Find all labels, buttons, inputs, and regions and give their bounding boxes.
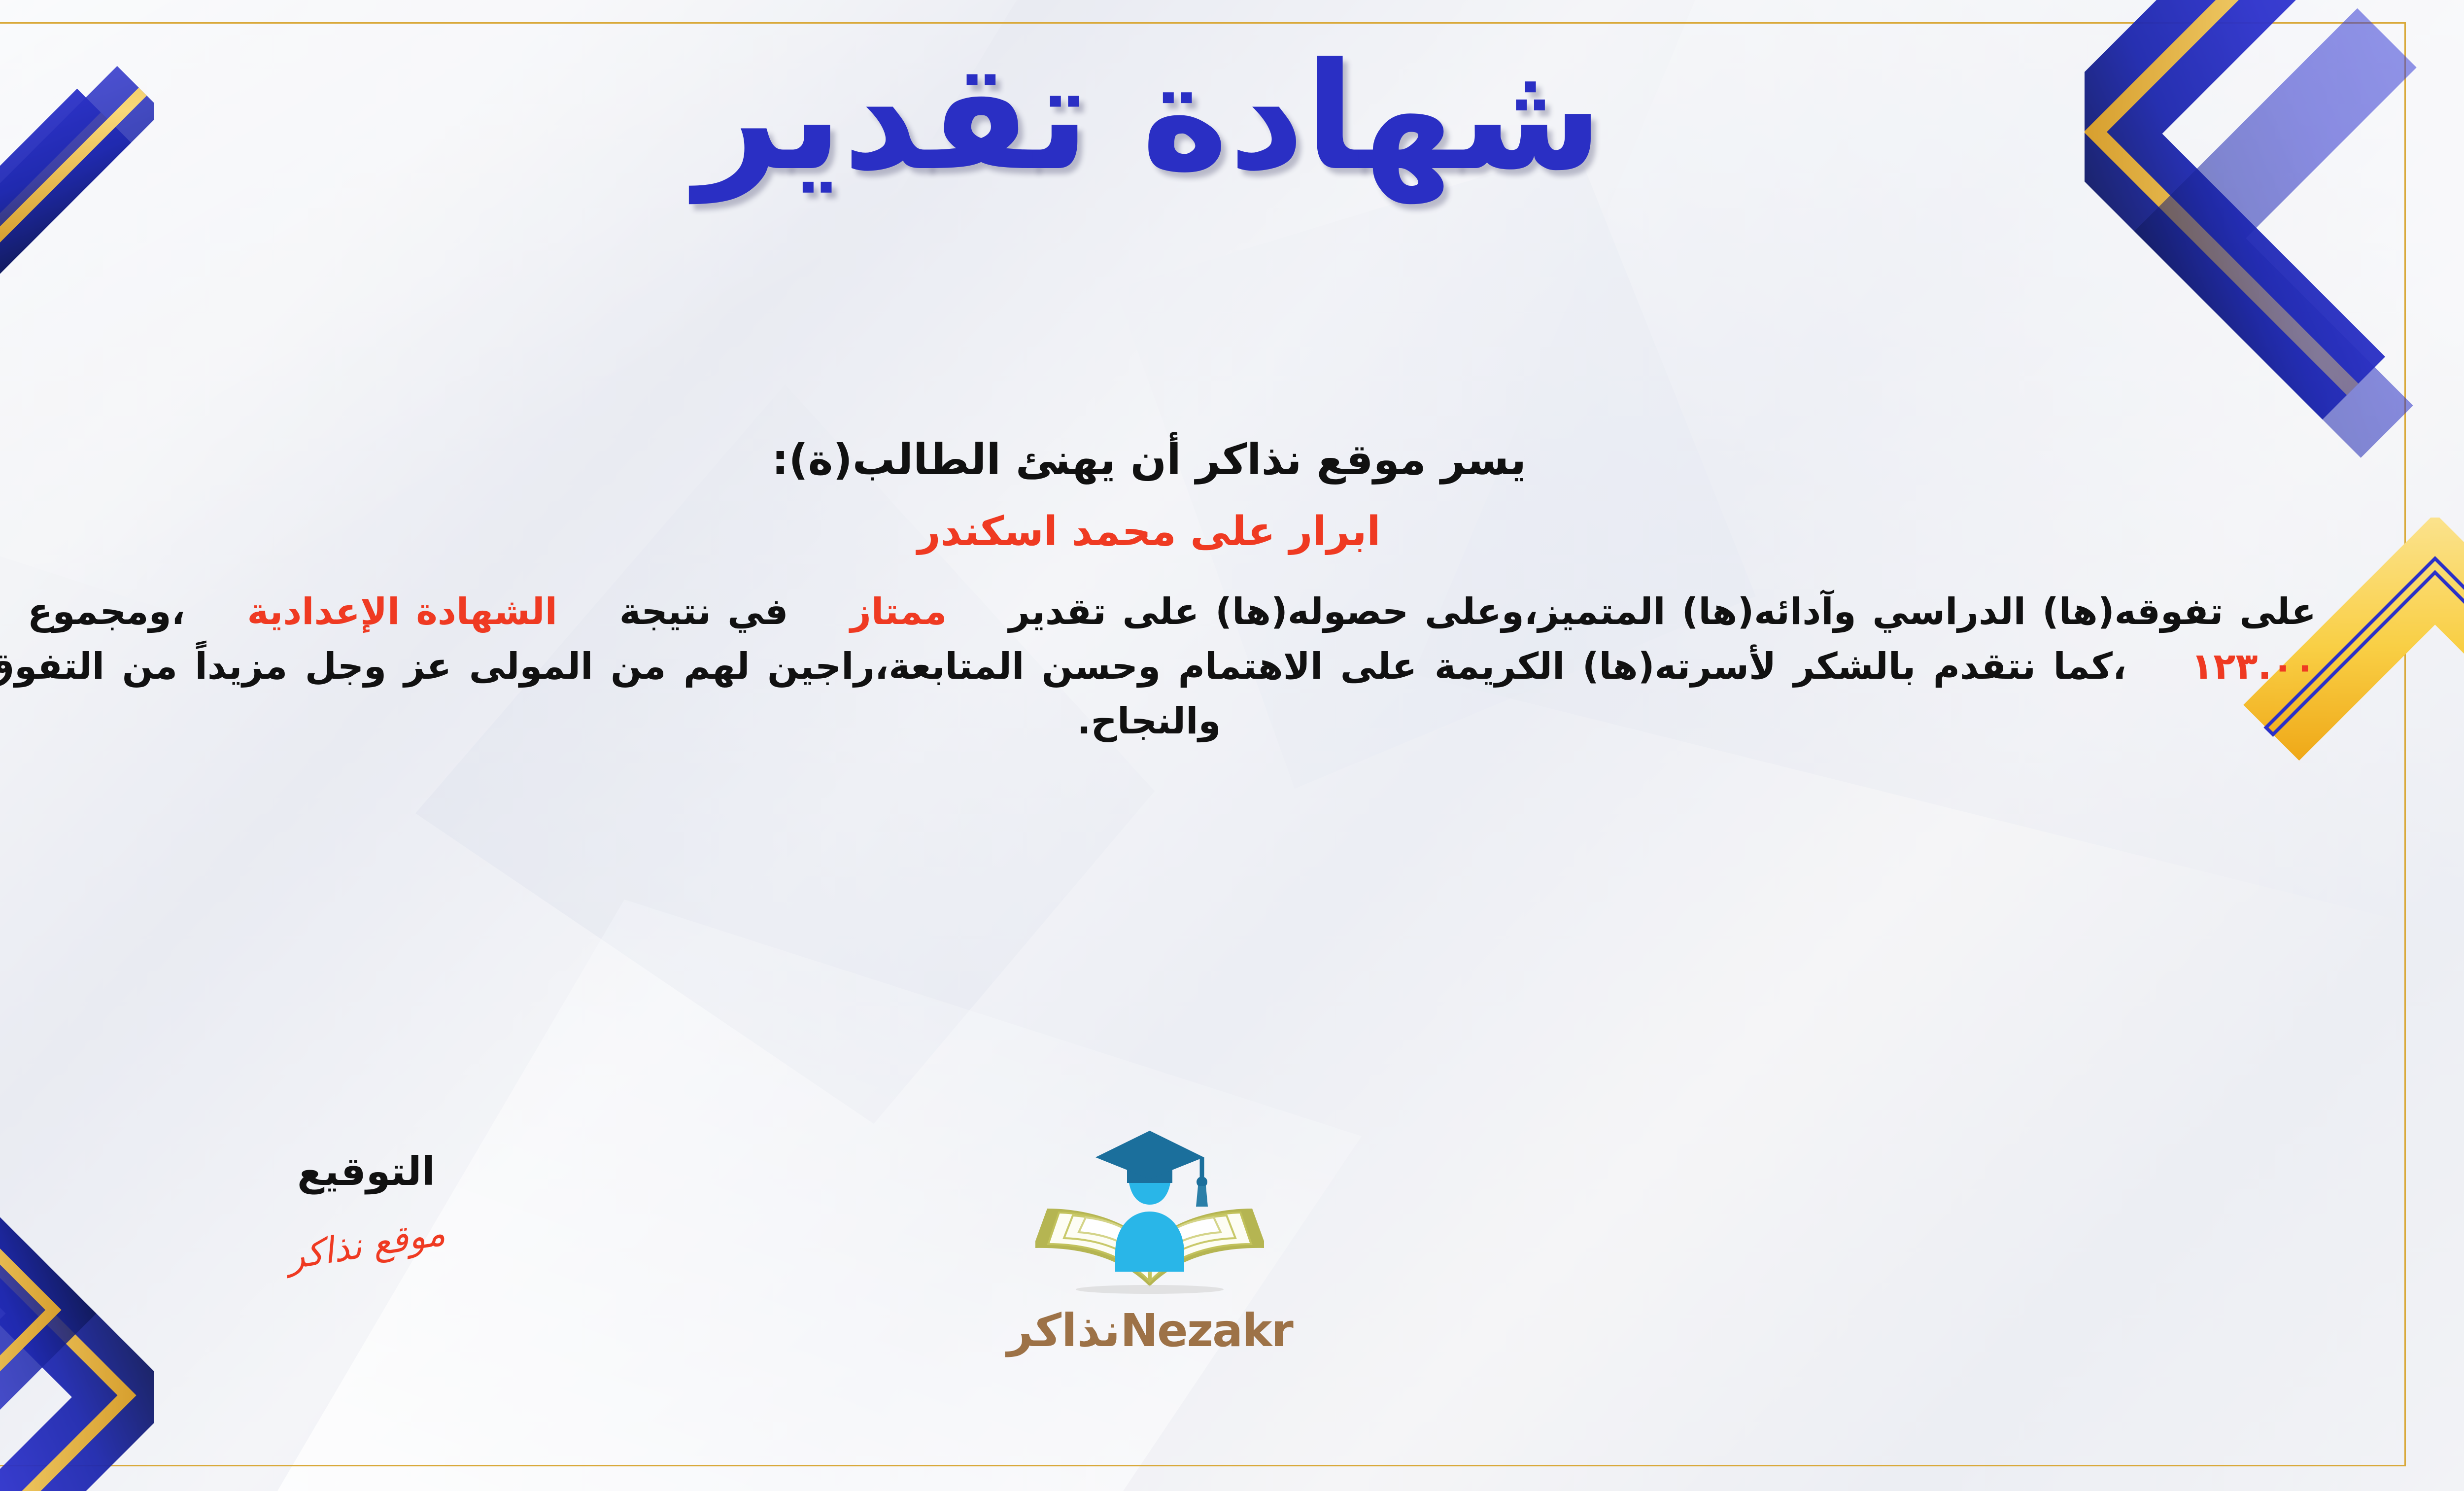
grade-value: ممتاز (850, 590, 947, 633)
signature-script: موقع نذاكر (284, 1212, 448, 1278)
signature-label: التوقيع (208, 1148, 524, 1194)
citation-segment-5: الكريمة على الاهتمام وحسن المتابعة،راجين… (305, 645, 1565, 688)
certificate-canvas: شهادة تقدير يسر موقع نذاكر أن يهنئ الطال… (0, 0, 2464, 1491)
citation-segment-2: في نتيجة (619, 590, 788, 633)
logo-wordmark: Nezakrنذاكر (962, 1304, 1337, 1357)
certificate-content: شهادة تقدير يسر موقع نذاكر أن يهنئ الطال… (0, 0, 2464, 1491)
citation-segment-3: ،ومجموع (28, 590, 185, 633)
total-score-value: ١٢٣.٠٠ (2191, 645, 2316, 688)
certificate-body: يسر موقع نذاكر أن يهنئ الطالب(ة): ابرار … (0, 434, 2316, 749)
citation-paragraph: على تفوقه(ها) الدراسي وآدائه(ها) المتميز… (0, 585, 2316, 749)
exam-name: الشهادة الإعدادية (247, 590, 557, 633)
page-title: شهادة تقدير (0, 39, 2464, 195)
citation-segment-4: ،كما نتقدم بالشكر لأسرته(ها) (1582, 645, 2126, 688)
brand-logo: Nezakrنذاكر (962, 1124, 1337, 1357)
intro-line: يسر موقع نذاكر أن يهنئ الطالب(ة): (0, 434, 2316, 487)
signature-block: التوقيع موقع نذاكر (208, 1148, 524, 1265)
student-name: ابرار على محمد اسكندر (0, 507, 2316, 557)
graduate-book-logo-icon (1022, 1124, 1278, 1301)
citation-segment-1: على تفوقه(ها) الدراسي وآدائه(ها) المتميز… (1009, 590, 2316, 633)
